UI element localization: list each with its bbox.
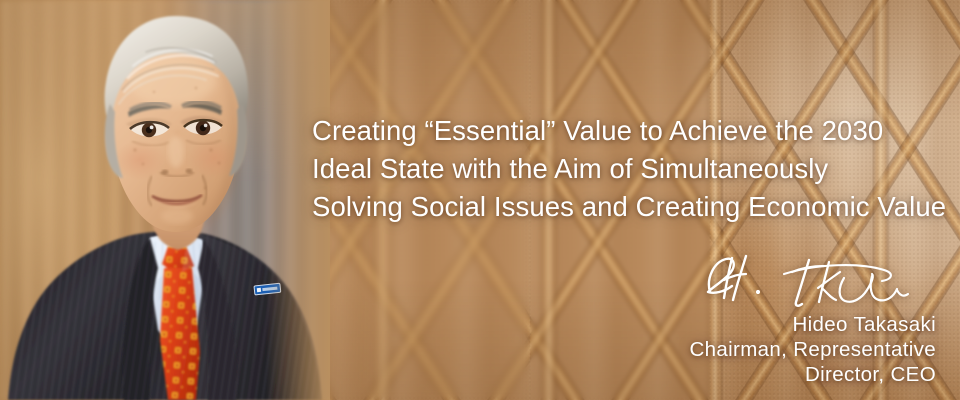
signatory-attribution: Hideo Takasaki Chairman, Representative …	[516, 312, 936, 387]
headline-line-1: Creating “Essential” Value to Achieve th…	[312, 115, 883, 146]
signatory-title-line-2: Director, CEO	[516, 362, 936, 387]
signatory-title-line-1: Chairman, Representative	[516, 337, 936, 362]
signatory-name: Hideo Takasaki	[516, 312, 936, 337]
portrait-photo	[0, 0, 330, 400]
headline-line-3: Solving Social Issues and Creating Econo…	[312, 188, 960, 226]
headline-line-2: Ideal State with the Aim of Simultaneous…	[312, 150, 960, 188]
hero-headline: Creating “Essential” Value to Achieve th…	[312, 112, 960, 226]
ceo-message-hero-banner: Creating “Essential” Value to Achieve th…	[0, 0, 960, 400]
